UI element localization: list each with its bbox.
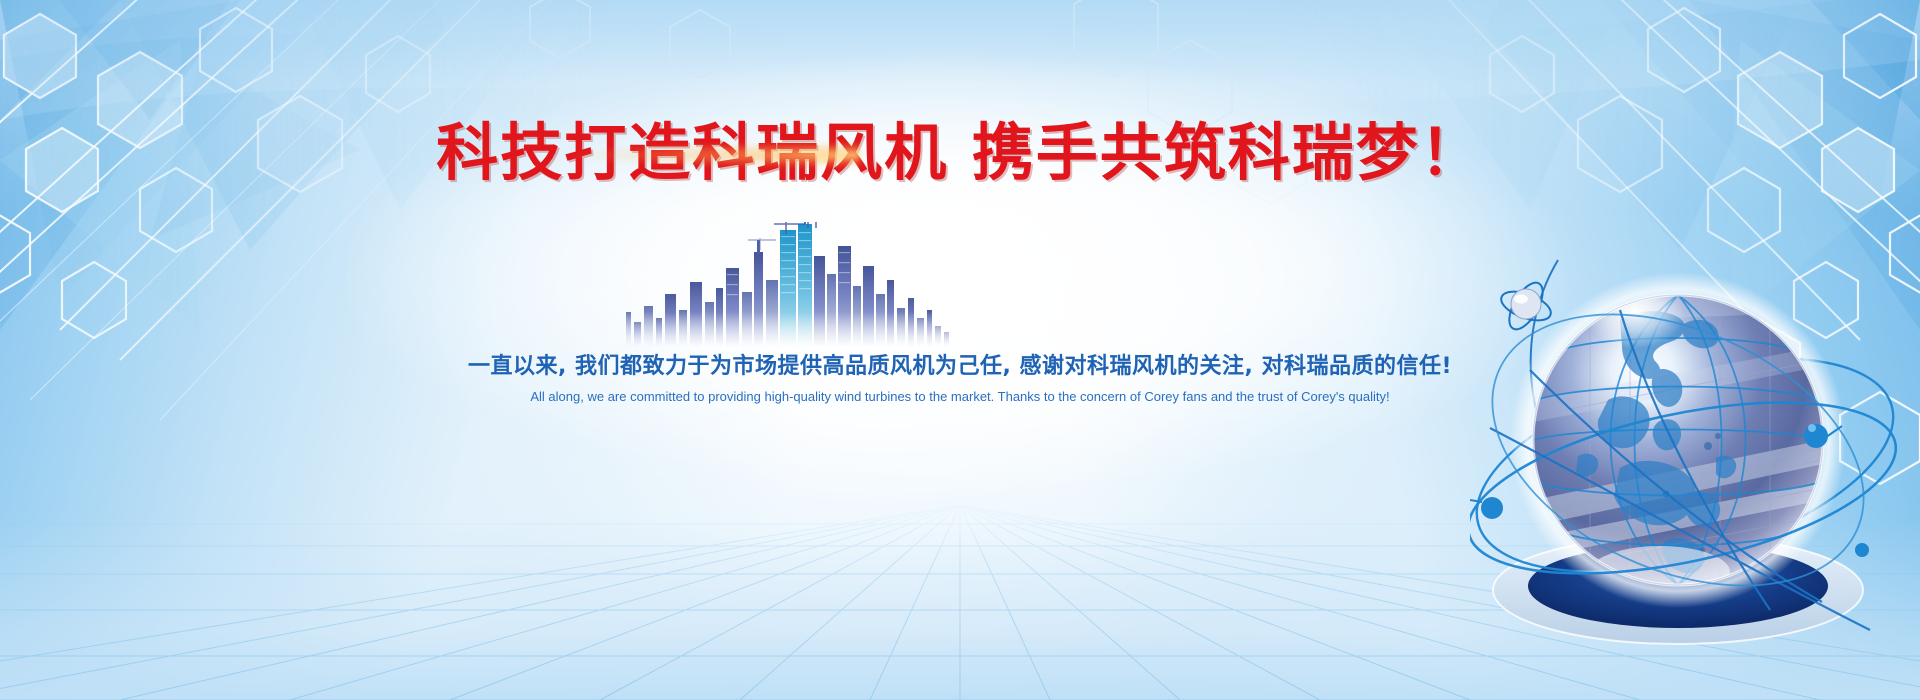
city-skyline-graphic <box>620 222 960 347</box>
orbit-node-icon <box>1804 424 1828 448</box>
orbit-node-icon <box>1855 543 1869 557</box>
page-title: 科技打造科瑞风机 携手共筑科瑞梦！ <box>0 116 1920 190</box>
orbit-node-icon <box>1481 497 1503 519</box>
hero-banner: 科技打造科瑞风机 携手共筑科瑞梦！ <box>0 0 1920 700</box>
spark-glow-icon <box>560 142 860 168</box>
globe-graphic <box>1470 250 1920 670</box>
